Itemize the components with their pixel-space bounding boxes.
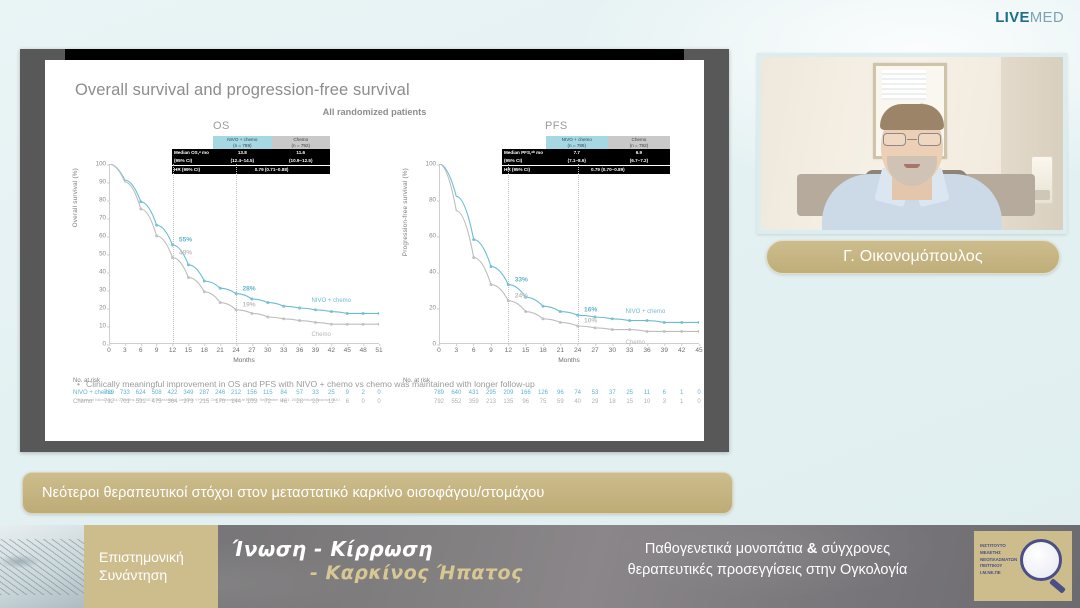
livemed-logo-primary: LIVE bbox=[995, 9, 1030, 26]
km-risk-value: 422 bbox=[168, 390, 178, 396]
slide-footnote: ᵃMinimum follow-up, 24.0 months. ᵇPer BI… bbox=[77, 397, 688, 402]
km-risk-value: 57 bbox=[296, 390, 303, 396]
km-y-tick: 100 bbox=[426, 161, 436, 168]
km-risk-value: 431 bbox=[469, 390, 479, 396]
km-risk-value: 0 bbox=[697, 399, 700, 405]
km-risk-value: 6 bbox=[663, 390, 666, 396]
km-annotation: 55% bbox=[179, 237, 192, 244]
km-y-tick: 80 bbox=[429, 197, 436, 204]
km-x-tick: 3 bbox=[123, 347, 127, 354]
km-x-tick: 15 bbox=[522, 347, 529, 354]
magnifying-glass-icon bbox=[1020, 539, 1062, 581]
bullet-marker: • bbox=[77, 379, 86, 389]
km-y-tick: 0 bbox=[103, 341, 106, 348]
km-x-tick: 27 bbox=[591, 347, 598, 354]
km-x-tick: 51 bbox=[375, 347, 382, 354]
km-x-tick: 39 bbox=[661, 347, 668, 354]
km-x-tick: 12 bbox=[169, 347, 176, 354]
km-y-tick: 60 bbox=[99, 233, 106, 240]
km-risk-value: 212 bbox=[231, 390, 241, 396]
slide-content: Overall survival and progression-free su… bbox=[45, 60, 704, 441]
km-risk-value: 640 bbox=[451, 390, 461, 396]
km-x-tick: 33 bbox=[280, 347, 287, 354]
km-risk-value: 0 bbox=[697, 390, 700, 396]
session-title-banner: Νεότεροι θεραπευτικοί στόχοι στον μεταστ… bbox=[22, 472, 733, 514]
km-x-tick: 39 bbox=[312, 347, 319, 354]
km-risk-value: 624 bbox=[136, 390, 146, 396]
km-x-tick: 6 bbox=[472, 347, 476, 354]
km-curve bbox=[439, 164, 699, 322]
km-x-tick: 9 bbox=[489, 347, 493, 354]
km-x-tick: 24 bbox=[232, 347, 239, 354]
km-x-tick: 24 bbox=[574, 347, 581, 354]
km-risk-value: 1 bbox=[680, 390, 683, 396]
eyeglasses-icon bbox=[883, 133, 941, 146]
km-risk-value: 96 bbox=[557, 390, 564, 396]
km-risk-row: NIVO + chemo7897336245084223492872462121… bbox=[73, 388, 383, 397]
km-series-label: Chemo bbox=[311, 332, 330, 338]
km-risk-value: 37 bbox=[609, 390, 616, 396]
km-x-tick: 36 bbox=[643, 347, 650, 354]
km-y-tick: 80 bbox=[99, 197, 106, 204]
km-risk-value: 295 bbox=[486, 390, 496, 396]
km-risk-value: 508 bbox=[152, 390, 162, 396]
slide-subtitle: All randomized patients bbox=[45, 107, 704, 117]
km-risk-value: 74 bbox=[574, 390, 581, 396]
speaker-video-feed bbox=[761, 57, 1063, 230]
km-x-tick: 0 bbox=[437, 347, 441, 354]
footer-event-line2: Συνάντηση bbox=[99, 567, 218, 585]
footer-hand-line2: - Καρκίνος Ήπατος bbox=[310, 562, 523, 584]
km-x-tick: 18 bbox=[539, 347, 546, 354]
km-y-tick: 40 bbox=[429, 269, 436, 276]
km-x-axis-label: Months bbox=[558, 357, 580, 364]
footer-theme-ampersand: & bbox=[807, 541, 817, 557]
km-x-tick: 9 bbox=[155, 347, 159, 354]
km-x-tick: 21 bbox=[557, 347, 564, 354]
km-plot-area: 0102030405060708090100036912151821242730… bbox=[109, 164, 379, 344]
km-risk-value: 166 bbox=[521, 390, 531, 396]
km-x-tick: 3 bbox=[454, 347, 458, 354]
km-x-tick: 0 bbox=[107, 347, 111, 354]
speaker-video-tile[interactable] bbox=[757, 53, 1067, 234]
km-risk-value: 287 bbox=[199, 390, 209, 396]
footer-theme-line1: Παθογενετικά μονοπάτια & σύγχρονες bbox=[575, 539, 960, 560]
footer-theme-line1-b: σύγχρονες bbox=[817, 541, 890, 557]
footer-hand-line1: Ίνωση - Κίρρωση bbox=[232, 537, 433, 561]
km-annotation: 24% bbox=[515, 292, 528, 299]
slide-frame-blackbar bbox=[65, 49, 684, 60]
km-x-tick: 33 bbox=[626, 347, 633, 354]
footer-event-label: Επιστημονική Συνάντηση bbox=[84, 525, 218, 608]
speaker-name: Γ. Οικονομόπουλος bbox=[843, 248, 983, 266]
km-y-axis-label: Overall survival (%) bbox=[72, 168, 79, 227]
km-risk-value: 11 bbox=[644, 390, 650, 396]
km-risk-value: 25 bbox=[626, 390, 633, 396]
km-annotation: 10% bbox=[584, 318, 597, 325]
km-y-tick: 60 bbox=[429, 233, 436, 240]
km-y-tick: 20 bbox=[99, 305, 106, 312]
km-x-tick: 42 bbox=[328, 347, 335, 354]
km-y-tick: 70 bbox=[99, 215, 106, 222]
km-chart-pfs: Progression-free survival (%)02040608010… bbox=[403, 138, 703, 413]
km-y-tick: 20 bbox=[429, 305, 436, 312]
km-annotation: 48% bbox=[179, 249, 192, 256]
km-x-tick: 18 bbox=[201, 347, 208, 354]
km-annotation: 28% bbox=[242, 285, 255, 292]
speaker-mouth bbox=[904, 164, 920, 168]
km-risk-value: 115 bbox=[263, 390, 273, 396]
km-risk-value: 789 bbox=[104, 390, 114, 396]
km-annotation: 19% bbox=[242, 301, 255, 308]
km-x-tick: 21 bbox=[217, 347, 224, 354]
km-x-tick: 45 bbox=[695, 347, 702, 354]
institute-logo: ΙΝΣΤΙΤΟΥΤΟ ΜΕΛΕΤΗΣ ΝΕΟΠΛΑΣΜΑΤΩΝ ΠΕΠΤΙΚΟΥ… bbox=[974, 531, 1072, 601]
livemed-logo: LIVEMED bbox=[995, 10, 1064, 25]
session-title-text: Νεότεροι θεραπευτικοί στόχοι στον μεταστ… bbox=[42, 485, 544, 501]
event-footer: Επιστημονική Συνάντηση Ίνωση - Κίρρωση -… bbox=[0, 525, 1080, 608]
km-risk-value: 9 bbox=[346, 390, 349, 396]
speaker-nameplate: Γ. Οικονομόπουλος bbox=[766, 240, 1060, 274]
km-risk-value: 25 bbox=[328, 390, 335, 396]
bullet-text: Clinically meaningful improvement in OS … bbox=[86, 379, 535, 389]
km-x-tick: 36 bbox=[296, 347, 303, 354]
km-risk-value: 0 bbox=[377, 390, 380, 396]
footer-theme-text: Παθογενετικά μονοπάτια & σύγχρονες θεραπ… bbox=[575, 539, 960, 580]
km-risk-value: 733 bbox=[120, 390, 130, 396]
km-x-tick: 30 bbox=[609, 347, 616, 354]
institute-logo-line1: ΙΝΣΤΙΤΟΥΤΟ bbox=[980, 543, 1028, 550]
slide-title: Overall survival and progression-free su… bbox=[75, 81, 410, 100]
km-curves bbox=[439, 164, 699, 344]
km-x-tick: 6 bbox=[139, 347, 143, 354]
km-x-axis-label: Months bbox=[233, 357, 255, 364]
km-risk-row: NIVO + chemo7896404312952091661269674533… bbox=[403, 388, 703, 397]
km-x-tick: 42 bbox=[678, 347, 685, 354]
km-series-label: NIVO + chemo bbox=[311, 298, 351, 304]
km-plot-area: 0204060801000369121518212427303336394245… bbox=[439, 164, 699, 344]
km-risk-value: 209 bbox=[503, 390, 513, 396]
km-x-tick: 27 bbox=[248, 347, 255, 354]
km-y-tick: 30 bbox=[99, 287, 106, 294]
km-y-axis-label: Progression-free survival (%) bbox=[402, 168, 409, 256]
km-x-tick: 48 bbox=[359, 347, 366, 354]
footer-theme-line1-a: Παθογενετικά μονοπάτια bbox=[645, 541, 807, 557]
km-x-tick: 45 bbox=[344, 347, 351, 354]
km-x-tick: 30 bbox=[264, 347, 271, 354]
km-series-label: Chemo bbox=[626, 340, 645, 346]
km-annotation: 33% bbox=[515, 276, 528, 283]
km-risk-value: 33 bbox=[312, 390, 319, 396]
footer-handwritten-title: Ίνωση - Κίρρωση - Καρκίνος Ήπατος bbox=[232, 535, 562, 601]
km-curve bbox=[439, 164, 699, 331]
livemed-logo-secondary: MED bbox=[1030, 9, 1064, 26]
km-risk-value: 2 bbox=[361, 390, 364, 396]
km-y-tick: 0 bbox=[433, 341, 436, 348]
panel-label-os: OS bbox=[213, 120, 230, 132]
km-risk-value: 84 bbox=[280, 390, 287, 396]
slide-bullet: •Clinically meaningful improvement in OS… bbox=[77, 379, 684, 389]
footer-theme-line2: θεραπευτικές προσεγγίσεις στην Ογκολογία bbox=[575, 560, 960, 581]
km-x-tick: 15 bbox=[185, 347, 192, 354]
km-y-tick: 10 bbox=[99, 323, 106, 330]
km-y-tick: 50 bbox=[99, 251, 106, 258]
magnifying-glass-handle-icon bbox=[1049, 578, 1066, 594]
km-y-tick: 90 bbox=[99, 179, 106, 186]
km-series-label: NIVO + chemo bbox=[626, 309, 666, 315]
km-curves bbox=[109, 164, 379, 344]
presentation-slide-frame[interactable]: Overall survival and progression-free su… bbox=[20, 49, 729, 452]
km-y-tick: 100 bbox=[96, 161, 106, 168]
km-risk-value: 156 bbox=[247, 390, 257, 396]
km-risk-value: 349 bbox=[183, 390, 193, 396]
km-risk-value: 53 bbox=[592, 390, 599, 396]
speaker-hair bbox=[880, 104, 944, 130]
km-risk-value: 246 bbox=[215, 390, 225, 396]
km-annotation: 16% bbox=[584, 307, 597, 314]
footer-artwork-thumbnail bbox=[0, 525, 84, 608]
km-risk-value: 789 bbox=[434, 390, 444, 396]
institute-logo-line5: Ι.Μ.ΝΕ.ΠΕ bbox=[980, 570, 1028, 577]
km-risk-value: 126 bbox=[538, 390, 548, 396]
panel-label-pfs: PFS bbox=[545, 120, 568, 132]
footer-event-line1: Επιστημονική bbox=[99, 549, 218, 567]
km-x-tick: 12 bbox=[505, 347, 512, 354]
km-chart-os: Overall survival (%)01020304050607080901… bbox=[73, 138, 383, 413]
km-y-tick: 40 bbox=[99, 269, 106, 276]
